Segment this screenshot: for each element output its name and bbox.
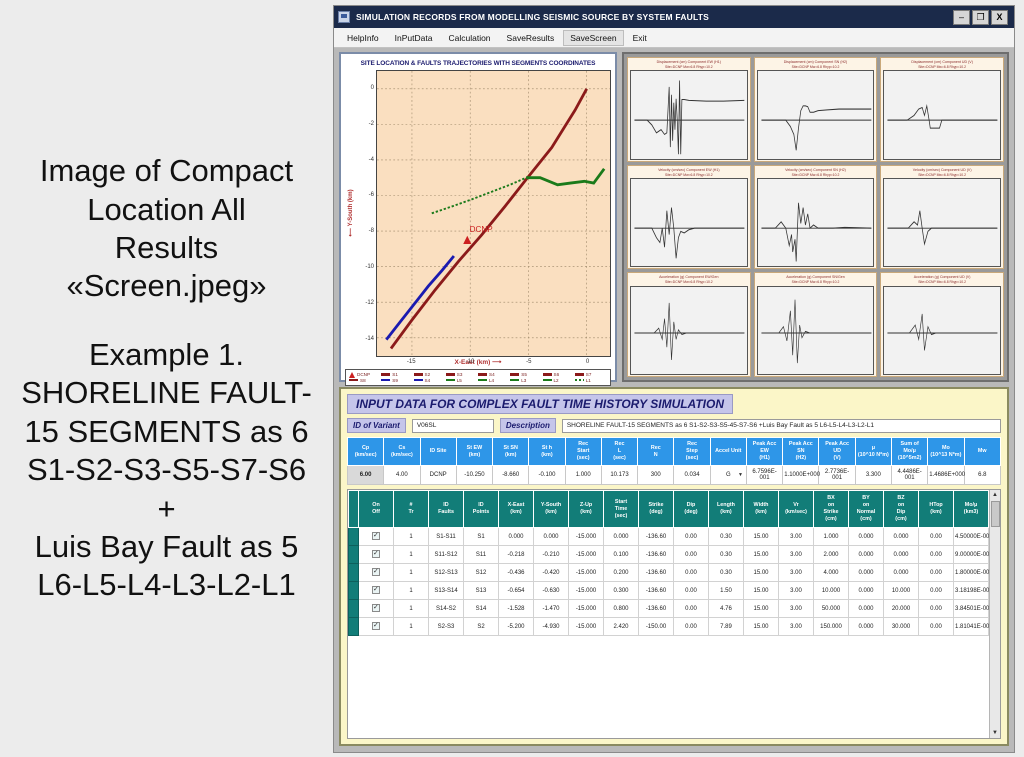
table-cell[interactable]: 0.000 (849, 618, 884, 636)
table-cell[interactable]: -150.00 (639, 618, 674, 636)
legend-label: DCNP (357, 372, 370, 377)
param-value-cell[interactable]: 300 (638, 466, 674, 485)
table-row[interactable]: 1S13-S14S13-0.654-0.630-15.0000.300-136.… (349, 582, 989, 600)
record-subtitle: Site=DCNP Mw=6.8 Rhyp=10.2 (630, 65, 748, 70)
table-cell[interactable]: 0.00 (919, 564, 954, 582)
table-cell[interactable]: 0.000 (499, 528, 534, 546)
chevron-down-icon[interactable]: ▼ (738, 472, 743, 478)
table-cell[interactable]: 15.00 (744, 564, 779, 582)
description-label: Description (500, 418, 556, 433)
variant-row: ID of Variant V06SL Description SHORELIN… (347, 418, 1001, 433)
legend-swatch (414, 373, 423, 376)
row-selector-cell[interactable] (349, 528, 359, 546)
row-selector-header (349, 491, 359, 528)
table-cell[interactable]: 10.000 (884, 582, 919, 600)
table-cell[interactable]: -136.60 (639, 564, 674, 582)
record-waveform (630, 286, 748, 375)
table-cell[interactable]: 15.00 (744, 546, 779, 564)
legend-swatch (575, 373, 584, 376)
checkbox-icon[interactable] (372, 586, 380, 594)
fault-header-cell: Z-Up(km) (569, 491, 604, 528)
slide-caption: Image of Compact Location All Results «S… (0, 0, 333, 757)
row-selector-cell[interactable] (349, 618, 359, 636)
fault-header-cell: BZonDip(cm) (884, 491, 919, 528)
record-waveform (883, 178, 1001, 267)
map-y-axis-label: ⟵ Y-South (km) (345, 70, 356, 357)
checkbox-icon[interactable] (372, 604, 380, 612)
row-enable-checkbox[interactable] (359, 564, 394, 582)
legend-swatch (575, 379, 584, 382)
site-marker-icon (463, 236, 471, 244)
table-cell[interactable]: 15.00 (744, 528, 779, 546)
table-cell[interactable]: -0.436 (499, 564, 534, 582)
y-tick-label: -6 (369, 192, 374, 198)
record-subtitle: Site=DCNP Mw=6.8 Rhyp=10.2 (630, 173, 748, 178)
table-cell[interactable]: 0.000 (534, 528, 569, 546)
param-value-cell[interactable]: 10.173 (601, 466, 637, 485)
fault-table-scrollbar[interactable]: ▲ ▼ (989, 490, 1000, 738)
record-waveform (630, 178, 748, 267)
table-cell[interactable]: -15.000 (569, 564, 604, 582)
legend-swatch (478, 379, 487, 382)
table-cell[interactable]: S13-S14 (429, 582, 464, 600)
map-x-axis-label: X-East (km) ⟶ (345, 358, 611, 366)
parameters-value-row: 6.004.00DCNP-10.250-8.660-0.1001.00010.1… (348, 466, 1001, 485)
record-waveform (883, 70, 1001, 159)
variant-input[interactable]: V06SL (412, 419, 494, 433)
legend-item: L4 (478, 378, 510, 383)
param-value-cell[interactable]: 1.1000E+000 (783, 466, 819, 485)
legend-swatch (543, 379, 552, 382)
table-cell[interactable]: 1.81041E-001 (954, 618, 989, 636)
table-cell[interactable]: -4.930 (534, 618, 569, 636)
fault-header-cell: BYonNormal(cm) (849, 491, 884, 528)
legend-swatch (478, 373, 487, 376)
y-tick-label: 0 (371, 85, 374, 91)
table-cell[interactable]: -0.218 (499, 546, 534, 564)
table-cell[interactable]: S14 (464, 600, 499, 618)
minimize-button[interactable]: – (953, 10, 970, 25)
table-cell[interactable]: -136.60 (639, 546, 674, 564)
table-cell[interactable]: 0.30 (709, 528, 744, 546)
close-button[interactable]: X (991, 10, 1008, 25)
legend-label: S2 (425, 372, 431, 377)
param-value-cell[interactable]: 1.000 (565, 466, 601, 485)
table-cell[interactable]: 0.00 (919, 582, 954, 600)
table-cell[interactable]: 4.000 (814, 564, 849, 582)
table-cell[interactable]: 0.100 (604, 546, 639, 564)
param-value-cell[interactable]: 6.8 (964, 466, 1000, 485)
slide-root: Image of Compact Location All Results «S… (0, 0, 1024, 757)
param-value-cell[interactable]: -8.660 (493, 466, 529, 485)
legend-swatch (414, 379, 423, 382)
table-cell[interactable]: 50.000 (814, 600, 849, 618)
param-value-cell[interactable]: 0.034 (674, 466, 710, 485)
upper-section: SITE LOCATION & FAULTS TRAJECTORIES WITH… (339, 52, 1009, 382)
table-cell[interactable]: 0.00 (674, 546, 709, 564)
table-cell[interactable]: 0.00 (674, 618, 709, 636)
legend-label: L1 (586, 378, 591, 383)
row-selector-cell[interactable] (349, 564, 359, 582)
legend-label: S1 (392, 372, 398, 377)
legend-label: L3 (521, 378, 526, 383)
record-waveform (630, 70, 748, 159)
param-header-cell: St h(km) (529, 438, 565, 466)
table-cell[interactable]: S2 (464, 618, 499, 636)
fault-header-cell: #Tr (394, 491, 429, 528)
row-enable-checkbox[interactable] (359, 528, 394, 546)
table-cell[interactable]: 0.000 (849, 528, 884, 546)
table-cell[interactable]: 3.00 (779, 564, 814, 582)
fault-header-cell: Strike(deg) (639, 491, 674, 528)
param-header-cell: Peak AccEW(H1) (746, 438, 782, 466)
param-header-cell: Cp(km/sec) (348, 438, 384, 466)
table-cell[interactable]: 0.00 (919, 546, 954, 564)
table-cell[interactable]: 0.000 (849, 546, 884, 564)
table-cell[interactable]: 150.000 (814, 618, 849, 636)
record-subtitle: Site=DCNP Mw=6.8 Rhyp=10.2 (757, 65, 875, 70)
table-cell[interactable]: 3.00 (779, 582, 814, 600)
table-cell[interactable]: -15.000 (569, 582, 604, 600)
param-value-cell[interactable]: 4.00 (384, 466, 420, 485)
fault-header-cell: IDPoints (464, 491, 499, 528)
caption-line: Results (40, 229, 293, 267)
table-cell[interactable]: 1 (394, 600, 429, 618)
table-cell[interactable]: 0.000 (849, 582, 884, 600)
table-cell[interactable]: -136.60 (639, 582, 674, 600)
table-cell[interactable]: 15.00 (744, 600, 779, 618)
legend-swatch (510, 373, 519, 376)
table-cell[interactable]: S12 (464, 564, 499, 582)
row-enable-checkbox[interactable] (359, 618, 394, 636)
table-cell[interactable]: 0.30 (709, 564, 744, 582)
scroll-down-icon[interactable]: ▼ (992, 729, 998, 737)
table-cell[interactable]: -15.000 (569, 618, 604, 636)
legend-swatch (510, 379, 519, 382)
fault-header-cell: Mo/μ(km3) (954, 491, 989, 528)
table-cell[interactable]: 20.000 (884, 600, 919, 618)
site-marker-label: DCNP (470, 225, 494, 234)
caption-line: SHORELINE FAULT- (21, 374, 312, 412)
param-header-cell: Mo(10^13 N*m) (928, 438, 964, 466)
param-value-cell[interactable]: 6.7596E-001 (746, 466, 782, 485)
table-cell[interactable]: -1.470 (534, 600, 569, 618)
legend-item: L3 (510, 378, 542, 383)
fault-segments-table: OnOff#TrIDFaultsIDPointsX-East(km)Y-Sout… (348, 490, 989, 636)
param-value-cell[interactable]: 1.4686E+000 (928, 466, 964, 485)
application-window: SIMULATION RECORDS FROM MODELLING SEISMI… (333, 5, 1015, 753)
legend-item: L2 (543, 378, 575, 383)
param-value-cell[interactable]: G▼ (710, 466, 746, 485)
record-waveform (757, 70, 875, 159)
record-waveform (757, 286, 875, 375)
table-cell[interactable]: 4.76 (709, 600, 744, 618)
map-legend: DCNPS1S2S3S4S5S6S7S8S9S4L5L4L3L2L1 (345, 369, 611, 386)
table-cell[interactable]: 10.000 (814, 582, 849, 600)
table-cell[interactable]: S1-S11 (429, 528, 464, 546)
table-cell[interactable]: 1.50 (709, 582, 744, 600)
y-tick-label: -2 (369, 121, 374, 127)
table-cell[interactable]: 1 (394, 528, 429, 546)
record-subtitle: Site=DCNP Mw=6.8 Rhyp=10.2 (630, 280, 748, 285)
param-header-cell: Peak AccSN(H2) (783, 438, 819, 466)
table-cell[interactable]: -0.654 (499, 582, 534, 600)
param-value-cell[interactable]: 2.7736E-001 (819, 466, 855, 485)
table-cell[interactable]: 0.000 (849, 564, 884, 582)
chart-series (386, 256, 454, 340)
param-header-cell: RecStep(sec) (674, 438, 710, 466)
table-cell[interactable]: 1 (394, 546, 429, 564)
window-controls: – ❐ X (953, 10, 1010, 25)
legend-item: L1 (575, 378, 607, 383)
legend-swatch (381, 379, 390, 382)
table-cell[interactable]: 0.00 (674, 528, 709, 546)
table-cell[interactable]: 3.00 (779, 528, 814, 546)
caption-line: S1-S2-S3-S5-S7-S6 (21, 451, 312, 489)
fault-header-cell: Y-South(km) (534, 491, 569, 528)
table-cell[interactable]: S12-S13 (429, 564, 464, 582)
table-cell[interactable]: -136.60 (639, 600, 674, 618)
fault-header-row: OnOff#TrIDFaultsIDPointsX-East(km)Y-Sout… (349, 491, 989, 528)
table-cell[interactable]: 7.89 (709, 618, 744, 636)
param-header-cell: St EW(km) (456, 438, 492, 466)
table-cell[interactable]: 0.30 (709, 546, 744, 564)
parameters-table: Cp(km/sec)Cs(km/sec)ID SiteSt EW(km)St S… (347, 437, 1001, 485)
legend-label: S6 (554, 372, 560, 377)
fault-header-cell: StartTime(sec) (604, 491, 639, 528)
records-row-displacement: Displacement (cm) Component EW (H1) Site… (627, 57, 1004, 162)
table-row[interactable]: 1S12-S13S12-0.436-0.420-15.0000.200-136.… (349, 564, 989, 582)
window-body: SITE LOCATION & FAULTS TRAJECTORIES WITH… (334, 48, 1014, 752)
caption-block-2: Example 1. SHORELINE FAULT- 15 SEGMENTS … (21, 336, 312, 605)
x-tick-label: 0 (586, 359, 589, 365)
fault-header-cell: IDFaults (429, 491, 464, 528)
table-cell[interactable]: 2.420 (604, 618, 639, 636)
chart-series (391, 89, 587, 349)
menu-item-helpinfo[interactable]: HelpInfo (340, 30, 386, 46)
record-cell[interactable]: Velocity (cm/sec) Component EW (H1) Site… (627, 165, 751, 270)
input-section-title: INPUT DATA FOR COMPLEX FAULT TIME HISTOR… (347, 394, 733, 414)
map-chart-title: SITE LOCATION & FAULTS TRAJECTORIES WITH… (345, 60, 611, 67)
table-cell[interactable]: -15.000 (569, 546, 604, 564)
record-cell[interactable]: Displacement (cm) Component EW (H1) Site… (627, 57, 751, 162)
legend-swatch (446, 379, 455, 382)
table-cell[interactable]: -136.60 (639, 528, 674, 546)
param-header-cell: Cs(km/sec) (384, 438, 420, 466)
row-enable-checkbox[interactable] (359, 582, 394, 600)
caption-line: + (21, 490, 312, 528)
seismic-records-panel: Displacement (cm) Component EW (H1) Site… (622, 52, 1009, 382)
table-cell[interactable]: 3.00 (779, 546, 814, 564)
map-plot-area: ⟵ Y-South (km) -14-12-10-8-6-4-20 DCNP (345, 70, 611, 357)
checkbox-icon[interactable] (372, 532, 380, 540)
table-cell[interactable]: S13 (464, 582, 499, 600)
table-cell[interactable]: 3.18198E-003 (954, 582, 989, 600)
fault-table-container: OnOff#TrIDFaultsIDPointsX-East(km)Y-Sout… (347, 489, 1001, 739)
table-cell[interactable]: 0.00 (919, 600, 954, 618)
row-selector-cell[interactable] (349, 582, 359, 600)
table-cell[interactable]: S1 (464, 528, 499, 546)
row-enable-checkbox[interactable] (359, 600, 394, 618)
scrollbar-thumb[interactable] (991, 501, 1000, 527)
table-cell[interactable]: S14-S2 (429, 600, 464, 618)
caption-line: Location All (40, 191, 293, 229)
fault-header-cell: BXonStrike(cm) (814, 491, 849, 528)
table-cell[interactable]: 0.00 (674, 600, 709, 618)
table-cell[interactable]: 0.300 (604, 582, 639, 600)
table-cell[interactable]: 4.50000E-005 (954, 528, 989, 546)
parameters-header-row: Cp(km/sec)Cs(km/sec)ID SiteSt EW(km)St S… (348, 438, 1001, 466)
table-cell[interactable]: S11-S12 (429, 546, 464, 564)
param-header-cell: RecN (638, 438, 674, 466)
checkbox-icon[interactable] (372, 568, 380, 576)
table-cell[interactable]: 3.84501E-002 (954, 600, 989, 618)
table-cell[interactable]: -0.210 (534, 546, 569, 564)
record-subtitle: Site=DCNP Mw=6.8 Rhyp=10.2 (757, 173, 875, 178)
table-cell[interactable]: 0.000 (884, 528, 919, 546)
table-cell[interactable]: 15.00 (744, 618, 779, 636)
param-header-cell: RecStart(sec) (565, 438, 601, 466)
row-selector-cell[interactable] (349, 600, 359, 618)
x-tick-label: -10 (466, 359, 475, 365)
table-cell[interactable]: 9.00000E-005 (954, 546, 989, 564)
param-header-cell: RecL(sec) (601, 438, 637, 466)
menu-item-calculation[interactable]: Calculation (441, 30, 497, 46)
legend-swatch (446, 373, 455, 376)
table-cell[interactable]: 2.000 (814, 546, 849, 564)
legend-label: L4 (489, 378, 494, 383)
table-cell[interactable]: 30.000 (884, 618, 919, 636)
table-cell[interactable]: 0.000 (884, 546, 919, 564)
param-value-cell[interactable]: DCNP (420, 466, 456, 485)
table-cell[interactable]: -0.630 (534, 582, 569, 600)
record-subtitle: Site=DCNP Mw=6.8 Rhyp=10.2 (883, 65, 1001, 70)
table-cell[interactable]: -15.000 (569, 528, 604, 546)
record-cell[interactable]: Acceleration (g) Component EW/Gen Site=D… (627, 272, 751, 377)
table-cell[interactable]: S2-S3 (429, 618, 464, 636)
caption-line: Luis Bay Fault as 5 (21, 528, 312, 566)
fault-header-cell: X-East(km) (499, 491, 534, 528)
record-cell[interactable]: Displacement (cm) Component SN (H2) Site… (754, 57, 878, 162)
param-value-cell[interactable]: -10.250 (456, 466, 492, 485)
param-header-cell: μ(10^10 N*m) (855, 438, 891, 466)
record-cell[interactable]: Acceleration (g) Component SN/Gen Site=D… (754, 272, 878, 377)
row-selector-cell[interactable] (349, 546, 359, 564)
record-cell[interactable]: Velocity (cm/sec) Component SN (H2) Site… (754, 165, 878, 270)
menu-bar: HelpInfo InPutData Calculation SaveResul… (334, 28, 1014, 48)
table-cell[interactable]: 0.000 (884, 564, 919, 582)
table-cell[interactable]: 3.00 (779, 600, 814, 618)
description-input[interactable]: SHORELINE FAULT-15 SEGMENTS as 6 S1-S2-S… (562, 419, 1001, 433)
window-title: SIMULATION RECORDS FROM MODELLING SEISMI… (356, 12, 709, 22)
scroll-up-icon[interactable]: ▲ (992, 491, 998, 499)
table-cell[interactable]: 0.000 (604, 528, 639, 546)
legend-swatch (349, 379, 358, 382)
table-cell[interactable]: -5.200 (499, 618, 534, 636)
table-row[interactable]: 1S14-S2S14-1.528-1.470-15.0000.800-136.6… (349, 600, 989, 618)
table-cell[interactable]: 0.800 (604, 600, 639, 618)
record-subtitle: Site=DCNP Mw=6.8 Rhyp=10.2 (883, 280, 1001, 285)
param-value-cell[interactable]: -0.100 (529, 466, 565, 485)
records-row-acceleration: Acceleration (g) Component EW/Gen Site=D… (627, 272, 1004, 377)
maximize-button[interactable]: ❐ (972, 10, 989, 25)
table-cell[interactable]: -1.528 (499, 600, 534, 618)
legend-item: S9 (381, 378, 413, 383)
y-tick-label: -10 (365, 264, 374, 270)
param-header-cell: Accel Unit (710, 438, 746, 466)
param-header-cell: Peak AccUD(V) (819, 438, 855, 466)
table-cell[interactable]: 1 (394, 564, 429, 582)
legend-label: S4 (489, 372, 495, 377)
legend-label: S8 (360, 378, 366, 383)
record-cell[interactable]: Displacement (cm) Component UD (V) Site=… (880, 57, 1004, 162)
menu-item-exit[interactable]: Exit (626, 30, 654, 46)
input-data-panel: INPUT DATA FOR COMPLEX FAULT TIME HISTOR… (339, 387, 1009, 746)
table-row[interactable]: 1S2-S3S2-5.200-4.930-15.0002.420-150.000… (349, 618, 989, 636)
table-cell[interactable]: 1.000 (814, 528, 849, 546)
menu-item-saveresults[interactable]: SaveResults (500, 30, 562, 46)
row-enable-checkbox[interactable] (359, 546, 394, 564)
fault-table-scroll: OnOff#TrIDFaultsIDPointsX-East(km)Y-Sout… (348, 490, 989, 738)
menu-item-inputdata[interactable]: InPutData (388, 30, 440, 46)
param-header-cell: St SN(km) (493, 438, 529, 466)
caption-line: L6-L5-L4-L3-L2-L1 (21, 566, 312, 604)
legend-label: S4 (425, 378, 431, 383)
checkbox-icon[interactable] (372, 622, 380, 630)
table-cell[interactable]: 0.200 (604, 564, 639, 582)
fault-header-cell: HTop(km) (919, 491, 954, 528)
record-cell[interactable]: Velocity (cm/sec) Component UD (V) Site=… (880, 165, 1004, 270)
legend-label: S9 (392, 378, 398, 383)
legend-label: L2 (554, 378, 559, 383)
param-value-cell[interactable]: 6.00 (348, 466, 384, 485)
fault-table-body: 1S1-S11S10.0000.000-15.0000.000-136.600.… (349, 528, 989, 636)
table-cell[interactable]: S11 (464, 546, 499, 564)
table-cell[interactable]: 1 (394, 618, 429, 636)
y-tick-label: -8 (369, 228, 374, 234)
table-cell[interactable]: 15.00 (744, 582, 779, 600)
table-cell[interactable]: 0.000 (849, 600, 884, 618)
menu-item-savescreen[interactable]: SaveScreen (563, 30, 623, 46)
record-waveform (883, 286, 1001, 375)
param-value-cell[interactable]: 3.300 (855, 466, 891, 485)
fault-header-cell: Length(km) (709, 491, 744, 528)
table-cell[interactable]: 0.00 (919, 618, 954, 636)
table-cell[interactable]: -15.000 (569, 600, 604, 618)
table-cell[interactable]: 1 (394, 582, 429, 600)
checkbox-icon[interactable] (372, 550, 380, 558)
legend-swatch (543, 373, 552, 376)
param-value-cell[interactable]: 4.4486E-001 (891, 466, 927, 485)
table-row[interactable]: 1S1-S11S10.0000.000-15.0000.000-136.600.… (349, 528, 989, 546)
table-row[interactable]: 1S11-S12S11-0.218-0.210-15.0000.100-136.… (349, 546, 989, 564)
table-cell[interactable]: 0.00 (674, 582, 709, 600)
record-subtitle: Site=DCNP Mw=6.8 Rhyp=10.2 (883, 173, 1001, 178)
chart-series (526, 169, 604, 185)
legend-item: L5 (446, 378, 478, 383)
table-cell[interactable]: 0.00 (919, 528, 954, 546)
record-waveform (757, 178, 875, 267)
table-cell[interactable]: -0.420 (534, 564, 569, 582)
table-cell[interactable]: 3.00 (779, 618, 814, 636)
caption-line: Image of Compact (40, 152, 293, 190)
table-cell[interactable]: 1.80000E-004 (954, 564, 989, 582)
fault-header-cell: Dip(deg) (674, 491, 709, 528)
record-cell[interactable]: Acceleration (g) Component UD (V) Site=D… (880, 272, 1004, 377)
legend-label: S3 (457, 372, 463, 377)
map-y-ticks: -14-12-10-8-6-4-20 (356, 70, 376, 357)
table-cell[interactable]: 0.00 (674, 564, 709, 582)
